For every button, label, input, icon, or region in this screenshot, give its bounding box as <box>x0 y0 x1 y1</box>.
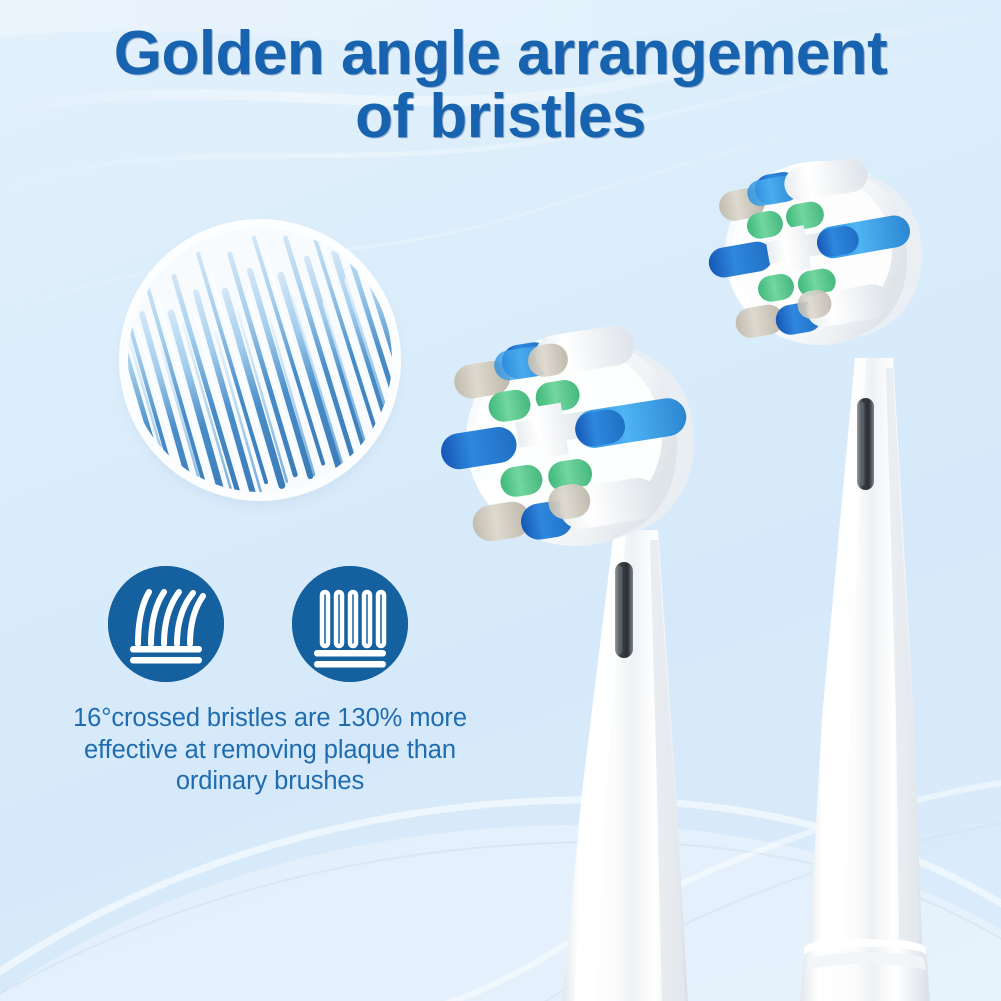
brush-neck-back <box>800 358 930 1001</box>
product-image-canvas: Golden angle arrangement of bristles <box>0 0 1001 1001</box>
bristle-macro-photo <box>128 228 392 492</box>
brush-head-back <box>700 158 924 347</box>
feature-icon-row <box>108 566 428 686</box>
bristle-macro-art <box>128 228 392 492</box>
brush-neck-front <box>562 530 688 1001</box>
toothbrush-head-front <box>436 322 766 1001</box>
crossed-bristles-icon <box>108 566 224 682</box>
title-line-1: Golden angle arrangement <box>0 22 1001 85</box>
brush-head-front <box>436 322 702 553</box>
page-title: Golden angle arrangement of bristles <box>0 22 1001 148</box>
title-line-2: of bristles <box>0 85 1001 148</box>
straight-bristles-icon <box>292 566 408 682</box>
